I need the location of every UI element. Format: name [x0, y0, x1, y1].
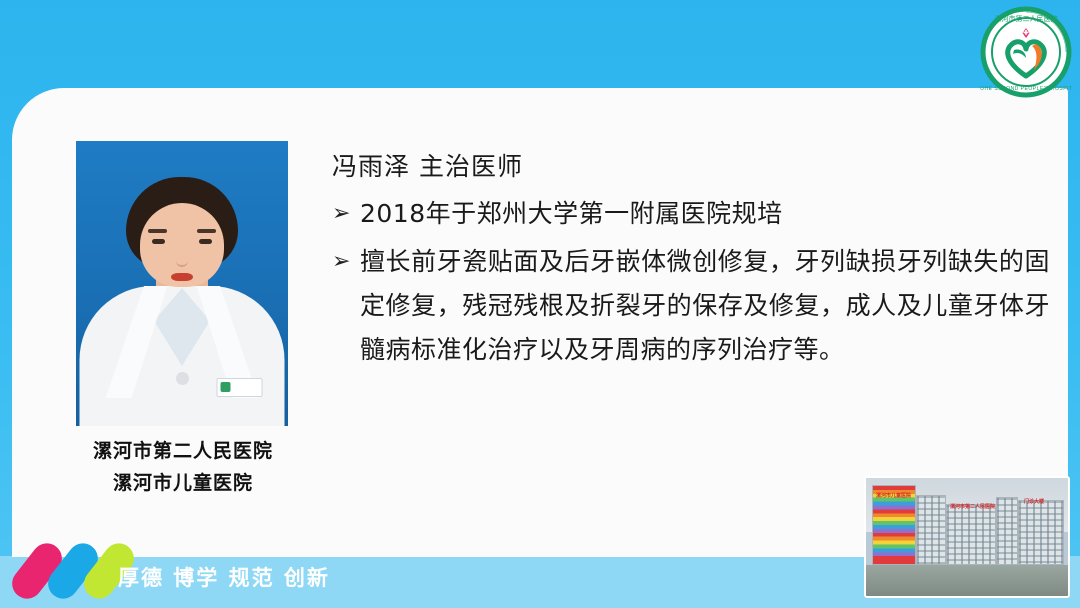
building-ground [866, 565, 1068, 596]
coat-button [176, 372, 189, 385]
bullet-list: ➢ 2018年于郑州大学第一附属医院规培 ➢ 擅长前牙瓷贴面及后牙嵌体微创修复，… [332, 192, 1050, 376]
building-sign-right: 门诊大楼 [1024, 498, 1044, 505]
svg-text:LUOHE SECOND PEOPLE'S HOSPITAL: LUOHE SECOND PEOPLE'S HOSPITAL [980, 86, 1072, 92]
portrait-nose [176, 255, 188, 267]
building-right-tower [1018, 500, 1064, 566]
portrait-eyebrow-left [148, 229, 167, 233]
building-sign-center: 漯河市第二人民医院 [950, 503, 995, 510]
portrait-lips [171, 273, 193, 281]
svg-text:漯河市第二人民医院: 漯河市第二人民医院 [995, 14, 1058, 23]
arrow-bullet-icon: ➢ [332, 192, 360, 236]
coat-lapel-left [106, 286, 168, 398]
hospital-logo: 漯河市第二人民医院 LUOHE SECOND PEOPLE'S HOSPITAL [980, 6, 1072, 98]
hospital-logo-icon: 漯河市第二人民医院 LUOHE SECOND PEOPLE'S HOSPITAL [980, 6, 1072, 98]
hospital-caption-line-1: 漯河市第二人民医院 [40, 436, 326, 463]
doctor-name-title: 冯雨泽 主治医师 [332, 147, 523, 183]
portrait-white-coat [80, 286, 285, 426]
bullet-text-1: 2018年于郑州大学第一附属医院规培 [360, 192, 1050, 236]
footer-motto: 厚德 博学 规范 创新 [118, 562, 330, 592]
bullet-text-2: 擅长前牙瓷贴面及后牙嵌体微创修复，牙列缺损牙列缺失的固定修复，残冠残根及折裂牙的… [360, 240, 1050, 372]
hospital-caption-line-2: 漯河市儿童医院 [40, 468, 326, 495]
portrait-eyebrow-right [197, 229, 216, 233]
portrait-eye-left [152, 239, 165, 244]
portrait-eye-right [199, 239, 212, 244]
building-block-4 [996, 497, 1018, 565]
arrow-bullet-icon: ➢ [332, 240, 360, 284]
bullet-item-1: ➢ 2018年于郑州大学第一附属医院规培 [332, 192, 1050, 236]
building-block-2 [916, 495, 946, 565]
building-main-block [946, 504, 996, 565]
bullet-item-2: ➢ 擅长前牙瓷贴面及后牙嵌体微创修复，牙列缺损牙列缺失的固定修复，残冠残根及折裂… [332, 240, 1050, 372]
presentation-slide: 漯河市第二人民医院 漯河市儿童医院 冯雨泽 主治医师 ➢ 2018年于郑州大学第… [0, 0, 1080, 608]
hospital-building-photo: 漯河市儿童医院 漯河市第二人民医院 门诊大楼 [864, 476, 1070, 598]
building-sign-left: 漯河市儿童医院 [876, 492, 911, 499]
coat-name-badge [217, 378, 263, 397]
doctor-portrait-photo [76, 141, 288, 426]
